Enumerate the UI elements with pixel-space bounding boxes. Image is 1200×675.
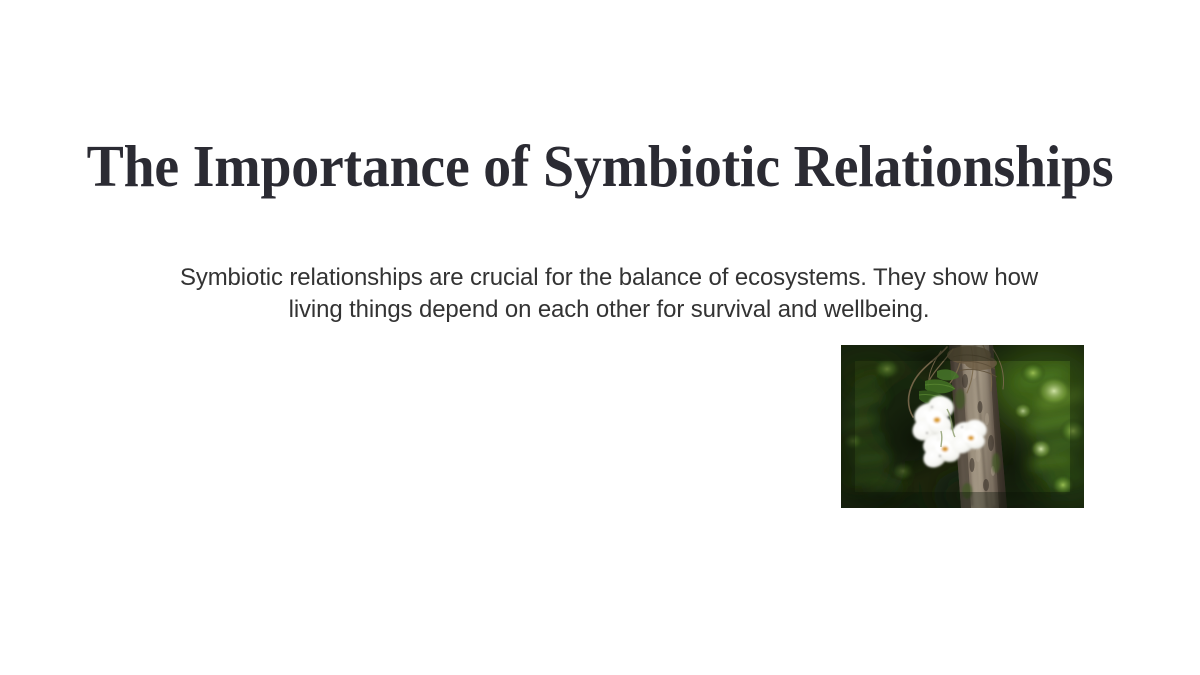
page-title: The Importance of Symbiotic Relationship… (33, 136, 1167, 198)
orchid-photo-graphic (841, 345, 1084, 508)
slide-body-text: Symbiotic relationships are crucial for … (164, 262, 1053, 326)
orchid-photo (841, 345, 1084, 508)
slide-canvas: The Importance of Symbiotic Relationship… (0, 0, 1200, 675)
